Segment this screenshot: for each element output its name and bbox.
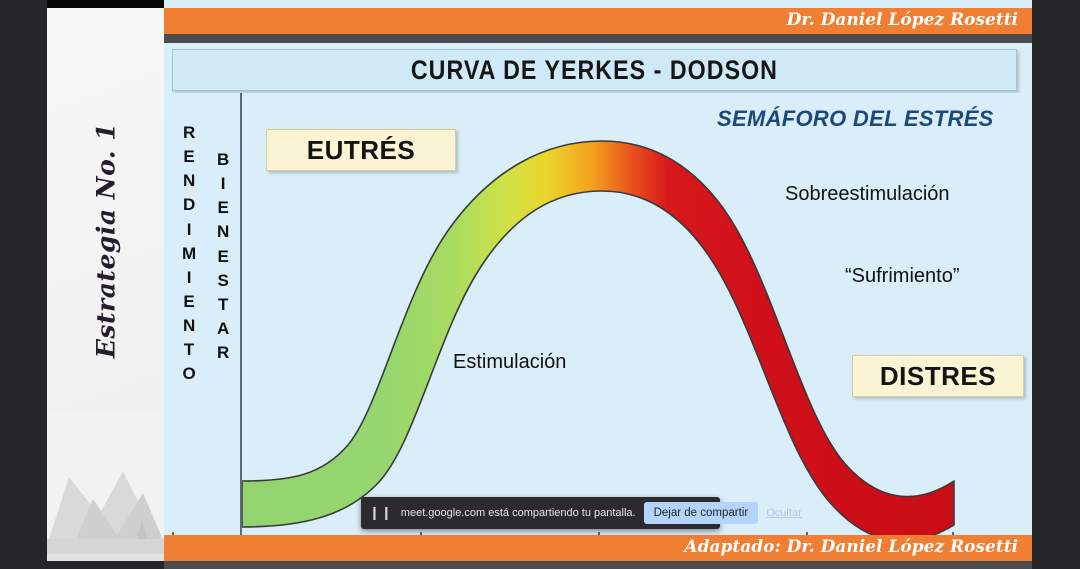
callout-eutres: EUTRÉS [266,129,456,171]
screen-share-notification-bar: ❙❙ meet.google.com está compartiendo tu … [361,497,720,529]
slide-body: CURVA DE YERKES - DODSON [164,43,1032,535]
annotation-sobreestimulacion: Sobreestimulación [785,183,950,206]
presenter-side-panel: Estrategia No. 1 [47,8,164,561]
page-title: CURVA DE YERKES - DODSON [411,55,778,86]
hide-sharing-bar-link[interactable]: Ocultar [766,507,801,519]
share-message: meet.google.com está compartiendo tu pan… [401,507,636,519]
semaforo-heading: SEMÁFORO DEL ESTRÉS [717,106,994,132]
yerkes-dodson-chart: 0 40 50 RENDIM IENTO BIENE STAR EUTRÉS D… [172,93,1032,535]
y-axis-line [240,93,242,541]
strategy-label: Estrategia No. 1 [92,96,121,386]
annotation-sufrimiento: “Sufrimiento” [845,265,959,288]
callout-distres: DISTRES [852,355,1024,397]
stop-sharing-button[interactable]: Dejar de compartir [644,502,759,524]
screen-capture: Estrategia No. 1 Dr. Daniel López Rosett… [0,0,1080,569]
y-axis-label-rendimiento: RENDIM IENTO [182,121,196,386]
y-axis-label-bienestar: BIENE STAR [217,148,229,365]
pause-icon: ❙❙ [369,506,393,521]
slide-top-byline: Dr. Daniel López Rosetti [787,10,1018,30]
slide-title-box: CURVA DE YERKES - DODSON [172,49,1017,91]
slide-bottom-byline: Adaptado: Dr. Daniel López Rosetti [684,537,1018,557]
mountain-illustration-icon [47,411,164,561]
shared-slide: Dr. Daniel López Rosetti CURVA DE YERKES… [164,0,1032,569]
annotation-estimulacion: Estimulación [453,351,566,374]
slide-bottom-dark-bar [164,561,1032,569]
slide-top-dark-bar [164,34,1032,43]
